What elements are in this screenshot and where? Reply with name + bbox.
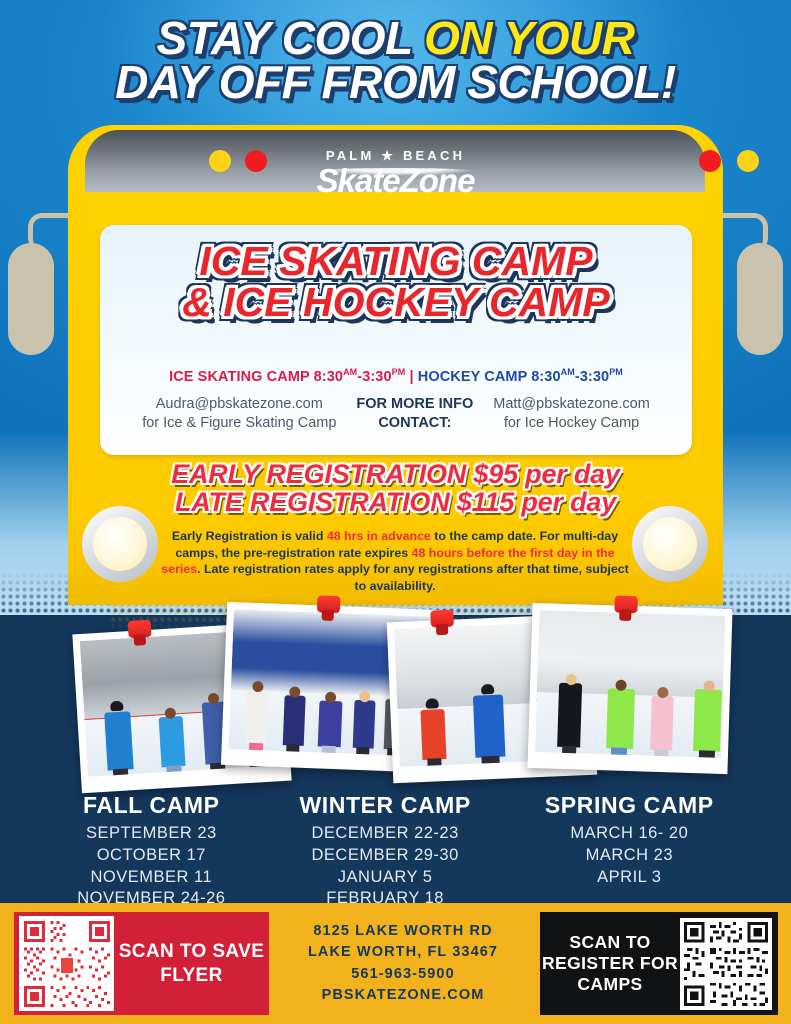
kid-7 — [317, 701, 342, 748]
flyer-canvas: STAY COOL ON YOUR DAY OFF FROM SCHOOL! P… — [0, 0, 791, 1024]
address-line-1: 8125 LAKE WORTH RD — [313, 921, 492, 942]
kid-6 — [282, 696, 305, 747]
camp-title: ICE SKATING CAMP & ICE HOCKEY CAMP — [100, 241, 692, 323]
kid-legs-16 — [654, 749, 668, 758]
camp-title-line-1: ICE SKATING CAMP — [100, 241, 692, 282]
website-url[interactable]: PBSKATEZONE.COM — [322, 985, 485, 1006]
kid-17 — [693, 689, 722, 752]
contact-label-line-1: FOR MORE INFO — [356, 395, 473, 414]
camp-date: DECEMBER 29-30 — [299, 845, 470, 867]
kid-8 — [352, 700, 375, 749]
brand-logo: PALM ★ BEACH SkateZone — [0, 148, 791, 200]
contact-left: Audra@pbskatezone.com for Ice & Figure S… — [142, 395, 336, 432]
phone-number[interactable]: 561-963-5900 — [351, 964, 455, 985]
camp-date: JANUARY 5 — [299, 867, 470, 889]
camp-column-fall: FALL CAMP SEPTEMBER 23 OCTOBER 17 NOVEMB… — [77, 792, 225, 910]
kid-14 — [557, 683, 582, 748]
kid-head-2 — [165, 707, 177, 719]
kid-head-8 — [359, 691, 370, 702]
pushpin-icon — [124, 620, 156, 648]
camp-date: OCTOBER 17 — [77, 845, 225, 867]
scan-register-panel[interactable]: SCAN TO REGISTER FOR CAMPS — [540, 912, 778, 1015]
camp-date: DECEMBER 22-23 — [299, 823, 470, 845]
kid-legs-7 — [321, 746, 335, 757]
kid-15 — [606, 689, 635, 750]
camp-name-spring: SPRING CAMP — [545, 792, 714, 819]
kid-legs-1 — [112, 768, 128, 777]
kid-legs-14 — [562, 746, 576, 758]
fineprint-highlight-1: 48 hrs in advance — [327, 529, 431, 543]
kid-head-7 — [325, 692, 336, 703]
camp-name-fall: FALL CAMP — [77, 792, 225, 819]
scan-save-flyer-panel[interactable]: SCAN TO SAVE FLYER — [14, 912, 269, 1015]
fineprint-part-3: . Late registration rates apply for any … — [197, 562, 629, 593]
camp-date: SEPTEMBER 23 — [77, 823, 225, 845]
skating-time: ICE SKATING CAMP 8:30AM-3:30PM — [169, 369, 405, 385]
kid-2 — [159, 716, 186, 767]
photo-gallery — [0, 596, 791, 796]
kid-legs-6 — [286, 745, 299, 757]
helmet-icon — [481, 684, 494, 695]
hockey-time: HOCKEY CAMP 8:30AM-3:30PM — [418, 369, 623, 385]
qr-code-save — [24, 921, 110, 1007]
contact-left-subtitle: for Ice & Figure Skating Camp — [142, 414, 336, 433]
pushpin-icon — [610, 595, 641, 622]
kid-head-14 — [565, 674, 576, 685]
kid-1 — [104, 711, 133, 770]
contact-right-email[interactable]: Matt@pbskatezone.com — [493, 395, 650, 414]
kid-legs-12 — [481, 756, 500, 767]
venue-address: 8125 LAKE WORTH RD LAKE WORTH, FL 33467 … — [272, 912, 534, 1015]
camp-date: NOVEMBER 11 — [77, 867, 225, 889]
headline-line-1: STAY COOL ON YOUR — [0, 16, 791, 60]
scan-register-label: SCAN TO REGISTER FOR CAMPS — [540, 932, 680, 995]
camp-title-line-2: & ICE HOCKEY CAMP — [100, 282, 692, 323]
pricing-section: EARLY REGISTRATION $95 per day LATE REGI… — [0, 460, 791, 516]
kid-head-17 — [703, 681, 714, 692]
helmet-icon — [425, 699, 438, 710]
contact-section: Audra@pbskatezone.com for Ice & Figure S… — [100, 395, 692, 432]
logo-swoosh — [311, 168, 481, 176]
pushpin-icon — [426, 609, 457, 636]
helmet-icon — [110, 700, 124, 711]
bus-headlight-right — [632, 506, 708, 582]
contact-right: Matt@pbskatezone.com for Ice Hockey Camp — [493, 395, 650, 432]
mirror-glass-left — [8, 243, 54, 355]
contact-right-subtitle: for Ice Hockey Camp — [493, 414, 650, 433]
contact-label-line-2: CONTACT: — [356, 414, 473, 433]
contact-label: FOR MORE INFO CONTACT: — [356, 395, 473, 432]
camp-column-winter: WINTER CAMP DECEMBER 22-23 DECEMBER 29-3… — [299, 792, 470, 910]
qr-code-icon[interactable] — [19, 916, 114, 1011]
kid-head-6 — [289, 687, 300, 698]
camp-name-winter: WINTER CAMP — [299, 792, 470, 819]
qr-code-icon[interactable] — [680, 918, 772, 1010]
page-title: STAY COOL ON YOUR DAY OFF FROM SCHOOL! — [0, 16, 791, 104]
kid-12 — [473, 695, 506, 758]
scan-save-flyer-label: SCAN TO SAVE FLYER — [114, 940, 269, 986]
kid-head-3 — [208, 692, 220, 704]
info-card: ICE SKATING CAMP & ICE HOCKEY CAMP ICE S… — [100, 225, 692, 455]
times-separator: | — [405, 369, 417, 385]
bus-headlight-left — [82, 506, 158, 582]
late-registration-price: LATE REGISTRATION $115 per day — [0, 488, 791, 516]
qr-code-register — [684, 922, 768, 1006]
kid-head-15 — [616, 680, 627, 691]
camp-times: ICE SKATING CAMP 8:30AM-3:30PM | HOCKEY … — [100, 367, 692, 385]
camp-date: MARCH 16- 20 — [545, 823, 714, 845]
kid-legs-8 — [356, 747, 369, 757]
kid-legs-17 — [698, 751, 715, 758]
kid-legs-11 — [427, 759, 442, 767]
camp-column-spring: SPRING CAMP MARCH 16- 20 MARCH 23 APRIL … — [545, 792, 714, 910]
kid-11 — [420, 709, 446, 760]
footer-bar: SCAN TO SAVE FLYER 8125 LAKE WORTH RD LA… — [0, 903, 791, 1024]
kid-legs-5 — [249, 743, 263, 757]
camp-schedule: FALL CAMP SEPTEMBER 23 OCTOBER 17 NOVEMB… — [0, 792, 791, 910]
kid-head-16 — [658, 687, 669, 698]
kid-5 — [245, 690, 269, 745]
camp-date: APRIL 3 — [545, 867, 714, 889]
mirror-glass-right — [737, 243, 783, 355]
contact-left-email[interactable]: Audra@pbskatezone.com — [142, 395, 336, 414]
kid-head-5 — [253, 681, 264, 692]
rink-scene-4 — [535, 610, 725, 758]
kid-legs-2 — [167, 765, 182, 777]
headline-line-2: DAY OFF FROM SCHOOL! — [0, 60, 791, 104]
kid-16 — [650, 696, 674, 751]
camp-date: MARCH 23 — [545, 845, 714, 867]
photo-hockey-team — [527, 603, 732, 774]
photo-image-4 — [535, 610, 725, 758]
pushpin-icon — [313, 595, 344, 622]
fineprint-part-1: Early Registration is valid — [172, 529, 327, 543]
early-registration-price: EARLY REGISTRATION $95 per day — [0, 460, 791, 488]
address-line-2: LAKE WORTH, FL 33467 — [308, 942, 498, 963]
registration-fineprint: Early Registration is valid 48 hrs in ad… — [160, 528, 630, 594]
kid-legs-15 — [611, 748, 628, 758]
